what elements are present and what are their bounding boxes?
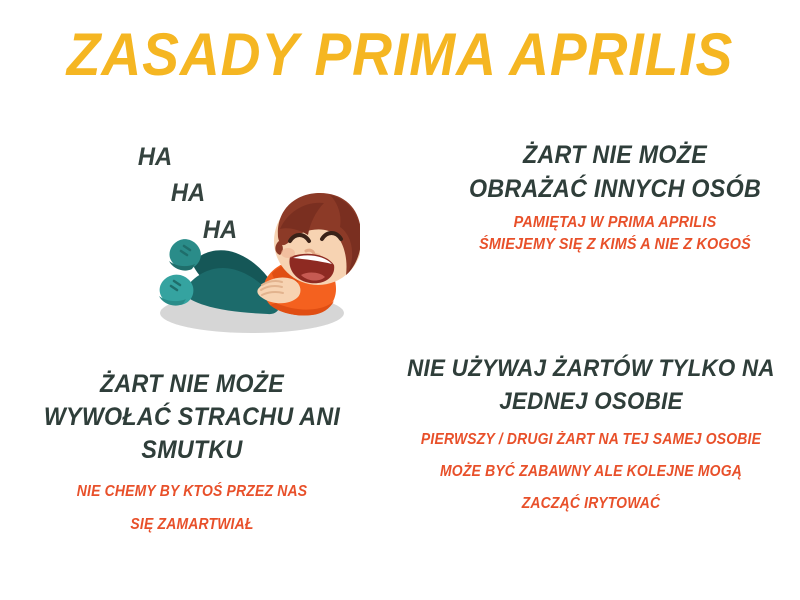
rule-offend-heading-line1: ŻART NIE MOŻE bbox=[443, 138, 787, 172]
rule-offend-sub-line1: PAMIĘTAJ W PRIMA APRILIS bbox=[449, 212, 782, 234]
rule-offend-heading-line2: OBRAŻAĆ INNYCH OSÓB bbox=[443, 172, 787, 206]
laughter-ha-1: HA bbox=[138, 145, 172, 170]
rule-fear-subtext: NIE CHEMY BY KTOŚ PRZEZ NAS SIĘ ZAMARTWI… bbox=[26, 475, 357, 541]
rule-block-fear: ŻART NIE MOŻE WYWOŁAĆ STRACHU ANI SMUTKU… bbox=[8, 368, 376, 541]
rule-repeat-heading-line2: JEDNEJ OSOBIE bbox=[397, 385, 786, 418]
poster-canvas: ZASADY PRIMA APRILIS HA HA HA bbox=[0, 0, 800, 600]
rule-block-offend: ŻART NIE MOŻE OBRAŻAĆ INNYCH OSÓB PAMIĘT… bbox=[430, 138, 800, 256]
rule-offend-sub-line2: ŚMIEJEMY SIĘ Z KIMŚ A NIE Z KOGOŚ bbox=[449, 234, 782, 256]
rule-fear-heading: ŻART NIE MOŻE WYWOŁAĆ STRACHU ANI SMUTKU bbox=[21, 368, 363, 467]
rule-offend-heading: ŻART NIE MOŻE OBRAŻAĆ INNYCH OSÓB bbox=[443, 138, 787, 206]
rule-fear-sub-line2: SIĘ ZAMARTWIAŁ bbox=[26, 508, 357, 541]
rule-fear-sub-line1: NIE CHEMY BY KTOŚ PRZEZ NAS bbox=[26, 475, 357, 508]
rule-repeat-sub-line1: PIERWSZY / DRUGI ŻART NA TEJ SAMEJ OSOBI… bbox=[403, 424, 779, 456]
rule-repeat-subtext: PIERWSZY / DRUGI ŻART NA TEJ SAMEJ OSOBI… bbox=[403, 424, 779, 520]
rule-offend-subtext: PAMIĘTAJ W PRIMA APRILIS ŚMIEJEMY SIĘ Z … bbox=[449, 212, 782, 256]
rule-block-repeat: NIE UŻYWAJ ŻARTÓW TYLKO NA JEDNEJ OSOBIE… bbox=[382, 352, 800, 520]
rule-fear-heading-line2: WYWOŁAĆ STRACHU ANI bbox=[21, 401, 363, 434]
rule-repeat-heading: NIE UŻYWAJ ŻARTÓW TYLKO NA JEDNEJ OSOBIE bbox=[397, 352, 786, 418]
page-title: ZASADY PRIMA APRILIS bbox=[32, 22, 768, 88]
cheek-blush bbox=[281, 248, 295, 258]
laughing-boy-illustration bbox=[140, 185, 360, 340]
rule-repeat-heading-line1: NIE UŻYWAJ ŻARTÓW TYLKO NA bbox=[397, 352, 786, 385]
rule-repeat-sub-line3: ZACZĄĆ IRYTOWAĆ bbox=[403, 488, 779, 520]
rule-repeat-sub-line2: MOŻE BYĆ ZABAWNY ALE KOLEJNE MOGĄ bbox=[403, 456, 779, 488]
rule-fear-heading-line3: SMUTKU bbox=[21, 434, 363, 467]
rule-fear-heading-line1: ŻART NIE MOŻE bbox=[21, 368, 363, 401]
